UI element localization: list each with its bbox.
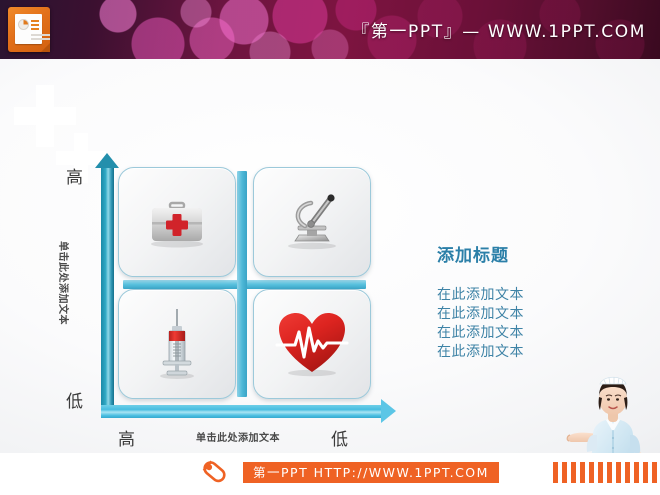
syringe-icon [119, 290, 235, 398]
panel-text-line-4[interactable]: 在此添加文本 [437, 343, 637, 362]
footer-stripes-decoration [553, 462, 660, 483]
y-axis-arrowhead-icon [95, 153, 119, 168]
slide-canvas: 高 低 高 低 单击此处添加文本 单击此处添加文本 [0, 59, 660, 453]
x-axis-arrowhead-icon [381, 399, 396, 423]
x-axis-arrow [101, 405, 382, 418]
heart-ecg-icon [254, 290, 370, 398]
logo-line [31, 24, 39, 26]
panel-title[interactable]: 添加标题 [437, 241, 637, 266]
logo-line [31, 34, 50, 36]
panel-text-line-1[interactable]: 在此添加文本 [437, 286, 637, 305]
x-axis-title[interactable]: 单击此处添加文本 [196, 429, 280, 444]
powerpoint-logo-icon [8, 7, 50, 52]
logo-line [31, 20, 39, 22]
microscope-icon [254, 168, 370, 276]
quadrant-card-bottom-right[interactable] [253, 289, 371, 399]
footer-url-text: 第一PPT HTTP://WWW.1PPT.COM [243, 462, 499, 483]
y-axis-tick-low: 低 [66, 387, 83, 412]
x-axis-tick-low: 低 [331, 425, 348, 450]
logo-line [31, 28, 39, 30]
quadrant-card-top-right[interactable] [253, 167, 371, 277]
x-axis-tick-high: 高 [118, 425, 135, 450]
banner-site-text: 『第一PPT』— WWW.1PPT.COM [352, 17, 646, 42]
medical-kit-icon [119, 168, 235, 276]
quadrant-card-bottom-left[interactable] [118, 289, 236, 399]
y-axis-title[interactable]: 单击此处添加文本 [57, 241, 72, 351]
quadrant-card-group [118, 167, 371, 399]
footer-bar: 第一PPT HTTP://WWW.1PPT.COM [0, 453, 660, 495]
logo-page-shape [15, 14, 42, 44]
panel-text-line-2[interactable]: 在此添加文本 [437, 305, 637, 324]
top-banner: 『第一PPT』— WWW.1PPT.COM [0, 0, 660, 59]
y-axis-arrow [101, 166, 114, 418]
logo-line [31, 38, 50, 40]
quadrant-card-top-left[interactable] [118, 167, 236, 277]
text-panel: 添加标题 在此添加文本 在此添加文本 在此添加文本 在此添加文本 [437, 241, 637, 362]
card-connector-vertical [237, 171, 247, 397]
y-axis-tick-high: 高 [66, 163, 83, 188]
panel-text-line-3[interactable]: 在此添加文本 [437, 324, 637, 343]
nurse-photo [566, 372, 660, 453]
logo-pie-chart-icon [18, 19, 29, 30]
pencil-icon [198, 458, 234, 489]
